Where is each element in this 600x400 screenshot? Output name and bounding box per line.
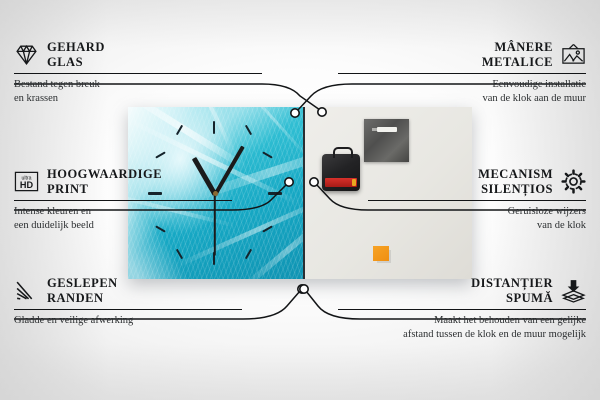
feature-title: GEHARD GLAS [47, 40, 105, 70]
feature-description: Geruisloze wijzers van de klok [366, 205, 586, 234]
clock-marker [176, 125, 183, 136]
feature-description: Eenvoudige installatie van de klok aan d… [336, 78, 586, 107]
metal-hanger [364, 119, 409, 162]
beveled-edges-icon [14, 278, 39, 303]
feature-geslepen-randen: GESLEPEN RANDEN Gladde en veilige afwerk… [14, 276, 244, 328]
svg-text:HD: HD [20, 180, 34, 190]
feature-title-row: ultra HD HOOGWAARDIGE PRINT [14, 167, 234, 197]
mechanism-loop [333, 147, 353, 158]
infographic-canvas: GEHARD GLAS Bestand tegen breuk en krass… [0, 0, 600, 400]
hanger-slot [377, 127, 397, 132]
battery [325, 178, 357, 187]
title-underline [338, 309, 586, 310]
foam-spacer [373, 246, 389, 261]
picture-hanger-icon [561, 42, 586, 67]
title-underline [368, 200, 586, 201]
title-underline [14, 200, 232, 201]
feature-description: Maakt het behouden van een gelijke afsta… [336, 314, 586, 343]
title-underline [338, 73, 586, 74]
clock-marker [155, 151, 166, 158]
feature-title: MÂNERE METALICE [482, 40, 553, 70]
clock-marker [213, 121, 215, 134]
clock-marker [262, 225, 273, 232]
clock-marker [262, 151, 273, 158]
feature-description: Bestand tegen breuk en krassen [14, 78, 264, 107]
feature-title: MECANISM SILENȚIOS [478, 167, 553, 197]
clock-marker [176, 249, 183, 260]
feature-title-row: DISTANȚIER SPUMĂ [336, 276, 586, 306]
diamond-icon [14, 42, 39, 67]
feature-title-row: MÂNERE METALICE [336, 40, 586, 70]
feature-hoogwaardige-print: ultra HD HOOGWAARDIGE PRINT Intense kleu… [14, 167, 234, 234]
clock-marker [245, 249, 252, 260]
feature-gehard-glas: GEHARD GLAS Bestand tegen breuk en krass… [14, 40, 264, 107]
feature-title: DISTANȚIER SPUMĂ [471, 276, 553, 306]
feature-mecanism-silentios: MECANISM SILENȚIOS Geruisloze wijzers va… [366, 167, 586, 234]
feature-title-row: MECANISM SILENȚIOS [366, 167, 586, 197]
ultra-hd-icon: ultra HD [14, 169, 39, 194]
title-underline [14, 73, 262, 74]
feature-manere-metalice: MÂNERE METALICE Eenvoudige installatie v… [336, 40, 586, 107]
feature-description: Gladde en veilige afwerking [14, 314, 244, 328]
title-underline [14, 309, 242, 310]
foam-spacer-icon [561, 278, 586, 303]
gear-icon [561, 169, 586, 194]
feature-title-row: GESLEPEN RANDEN [14, 276, 244, 306]
feature-title: HOOGWAARDIGE PRINT [47, 167, 162, 197]
clock-mechanism [322, 154, 360, 191]
feature-title-row: GEHARD GLAS [14, 40, 264, 70]
feature-distantier-spuma: DISTANȚIER SPUMĂ Maakt het behouden van … [336, 276, 586, 343]
clock-marker [245, 125, 252, 136]
feature-description: Intense kleuren en een duidelijk beeld [14, 205, 234, 234]
feature-title: GESLEPEN RANDEN [47, 276, 118, 306]
clock-marker [268, 192, 282, 195]
